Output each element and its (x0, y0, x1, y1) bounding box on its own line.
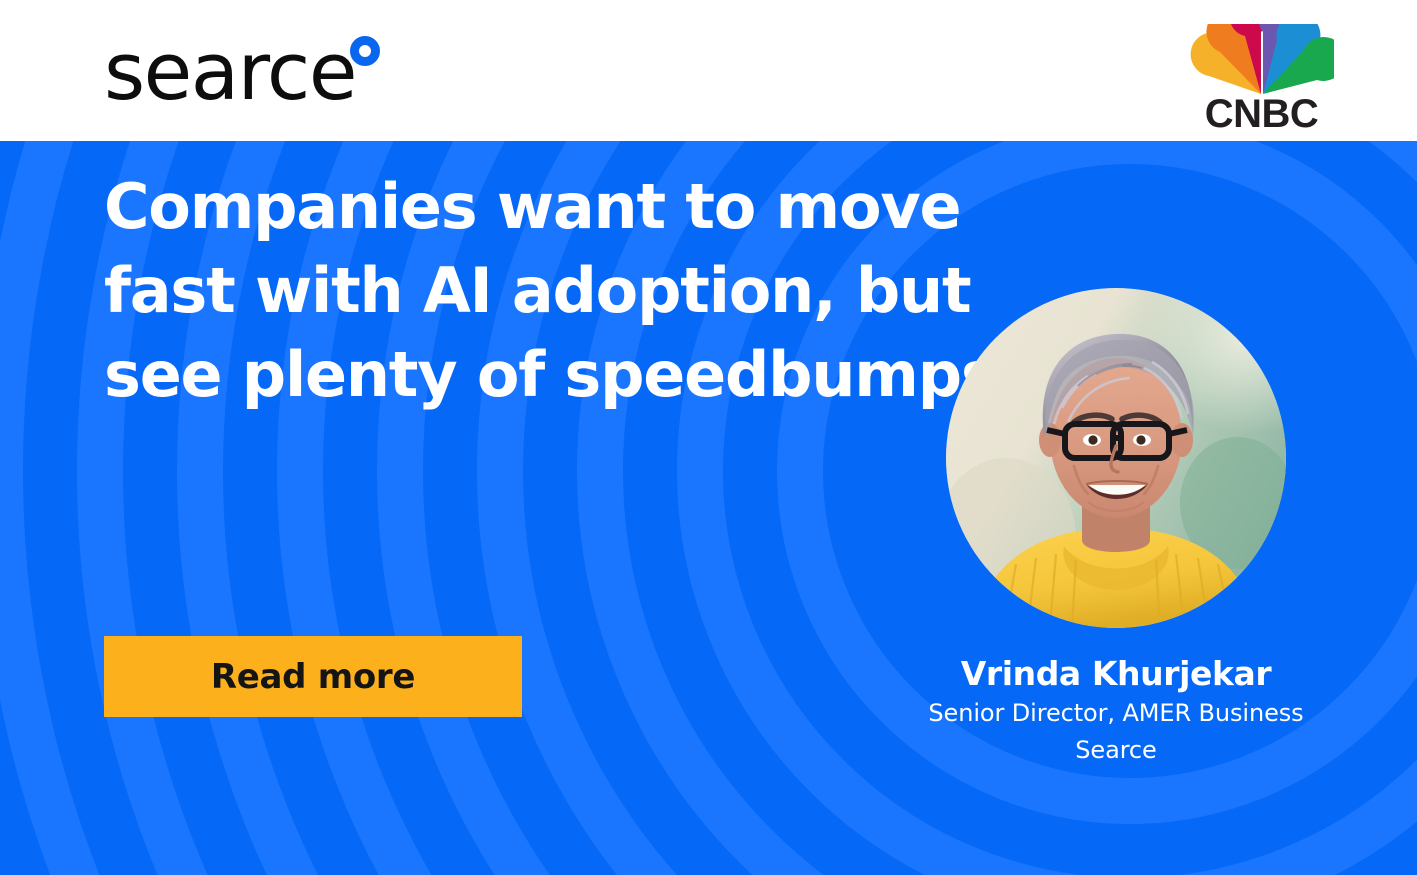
speaker-headshot-illustration (946, 288, 1286, 628)
speaker-organization: Searce (860, 734, 1372, 767)
headline-line-3: see plenty of speedbumps (104, 333, 864, 417)
degree-ring-icon (350, 36, 380, 66)
cnbc-logo[interactable]: CNBC (1189, 24, 1334, 124)
hero-copy: Companies want to move fast with AI adop… (104, 165, 864, 417)
speaker-name: Vrinda Khurjekar (860, 655, 1372, 693)
speaker-card: Vrinda Khurjekar Senior Director, AMER B… (860, 288, 1372, 767)
nbc-peacock-icon (1189, 24, 1334, 96)
searce-wordmark: searce (104, 32, 356, 112)
cnbc-searce-promo-banner: searce CNBC (0, 0, 1417, 875)
headline-line-1: Companies want to move (104, 165, 864, 249)
avatar (946, 288, 1286, 628)
headline-line-2: fast with AI adoption, but (104, 249, 864, 333)
speaker-role: Senior Director, AMER Business (860, 697, 1372, 730)
searce-logo[interactable]: searce (104, 32, 394, 112)
page-title: Companies want to move fast with AI adop… (104, 165, 864, 417)
header-bar: searce CNBC (0, 0, 1417, 141)
read-more-button[interactable]: Read more (104, 636, 522, 717)
cnbc-wordmark: CNBC (1189, 94, 1334, 134)
